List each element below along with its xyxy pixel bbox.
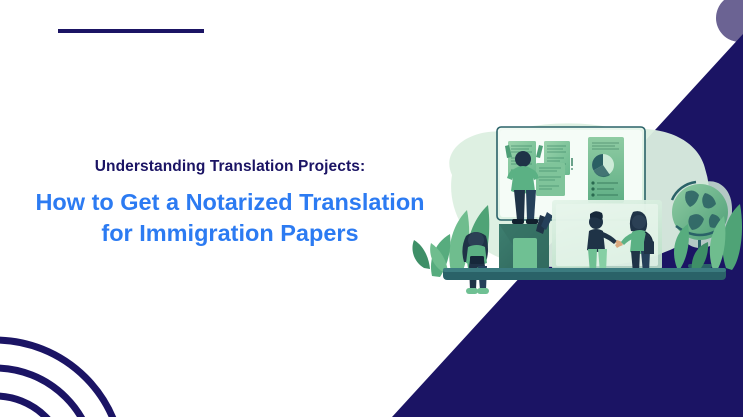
page-title: How to Get a Notarized Translation for I…: [0, 187, 460, 250]
platform-highlight: [443, 268, 726, 272]
headline-line-2: for Immigration Papers: [0, 218, 460, 250]
top-divider-rule: [58, 29, 204, 33]
tablet: [470, 256, 484, 264]
person-seated-reading: [462, 232, 489, 294]
eyebrow-text: Understanding Translation Projects:: [0, 158, 460, 177]
document-card: [536, 163, 565, 196]
pie-chart-card: [588, 137, 624, 203]
headline-line-1: How to Get a Notarized Translation: [0, 187, 460, 219]
blog-header-banner: Understanding Translation Projects: How …: [0, 0, 743, 417]
headline-text-block: Understanding Translation Projects: How …: [0, 158, 460, 250]
